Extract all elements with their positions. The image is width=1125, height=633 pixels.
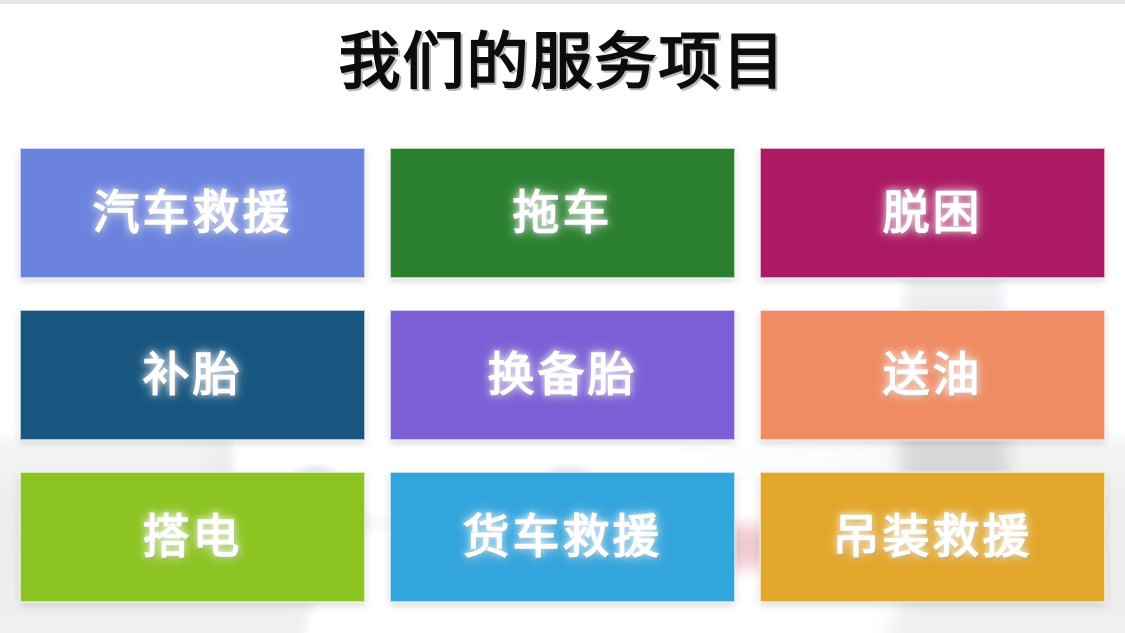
service-tile-label: 拖车 <box>513 190 613 237</box>
service-tile-crane-rescue[interactable]: 吊装救援 <box>760 472 1105 602</box>
service-tile-jump-start[interactable]: 搭电 <box>20 472 365 602</box>
service-poster: 我们的服务项目 汽车救援 拖车 脱困 补胎 换备胎 送油 搭电 货车救援 吊装救… <box>0 0 1125 633</box>
service-tile-label: 货车救援 <box>463 514 663 561</box>
service-tile-tire-repair[interactable]: 补胎 <box>20 310 365 440</box>
service-tile-label: 汽车救援 <box>93 190 293 237</box>
service-tile-label: 补胎 <box>143 352 243 399</box>
service-tile-extraction[interactable]: 脱困 <box>760 148 1105 278</box>
service-tile-label: 脱困 <box>883 190 983 237</box>
top-divider <box>0 0 1125 4</box>
service-tile-spare-tire-change[interactable]: 换备胎 <box>390 310 735 440</box>
service-grid: 汽车救援 拖车 脱困 补胎 换备胎 送油 搭电 货车救援 吊装救援 <box>20 148 1105 602</box>
service-tile-truck-rescue[interactable]: 货车救援 <box>390 472 735 602</box>
service-tile-label: 吊装救援 <box>833 514 1033 561</box>
service-tile-towing[interactable]: 拖车 <box>390 148 735 278</box>
page-title: 我们的服务项目 <box>338 31 786 93</box>
header-band: 我们的服务项目 <box>0 0 1125 118</box>
service-tile-roadside-assistance[interactable]: 汽车救援 <box>20 148 365 278</box>
service-tile-label: 换备胎 <box>488 352 638 399</box>
service-tile-fuel-delivery[interactable]: 送油 <box>760 310 1105 440</box>
service-tile-label: 送油 <box>883 352 983 399</box>
service-tile-label: 搭电 <box>143 514 243 561</box>
